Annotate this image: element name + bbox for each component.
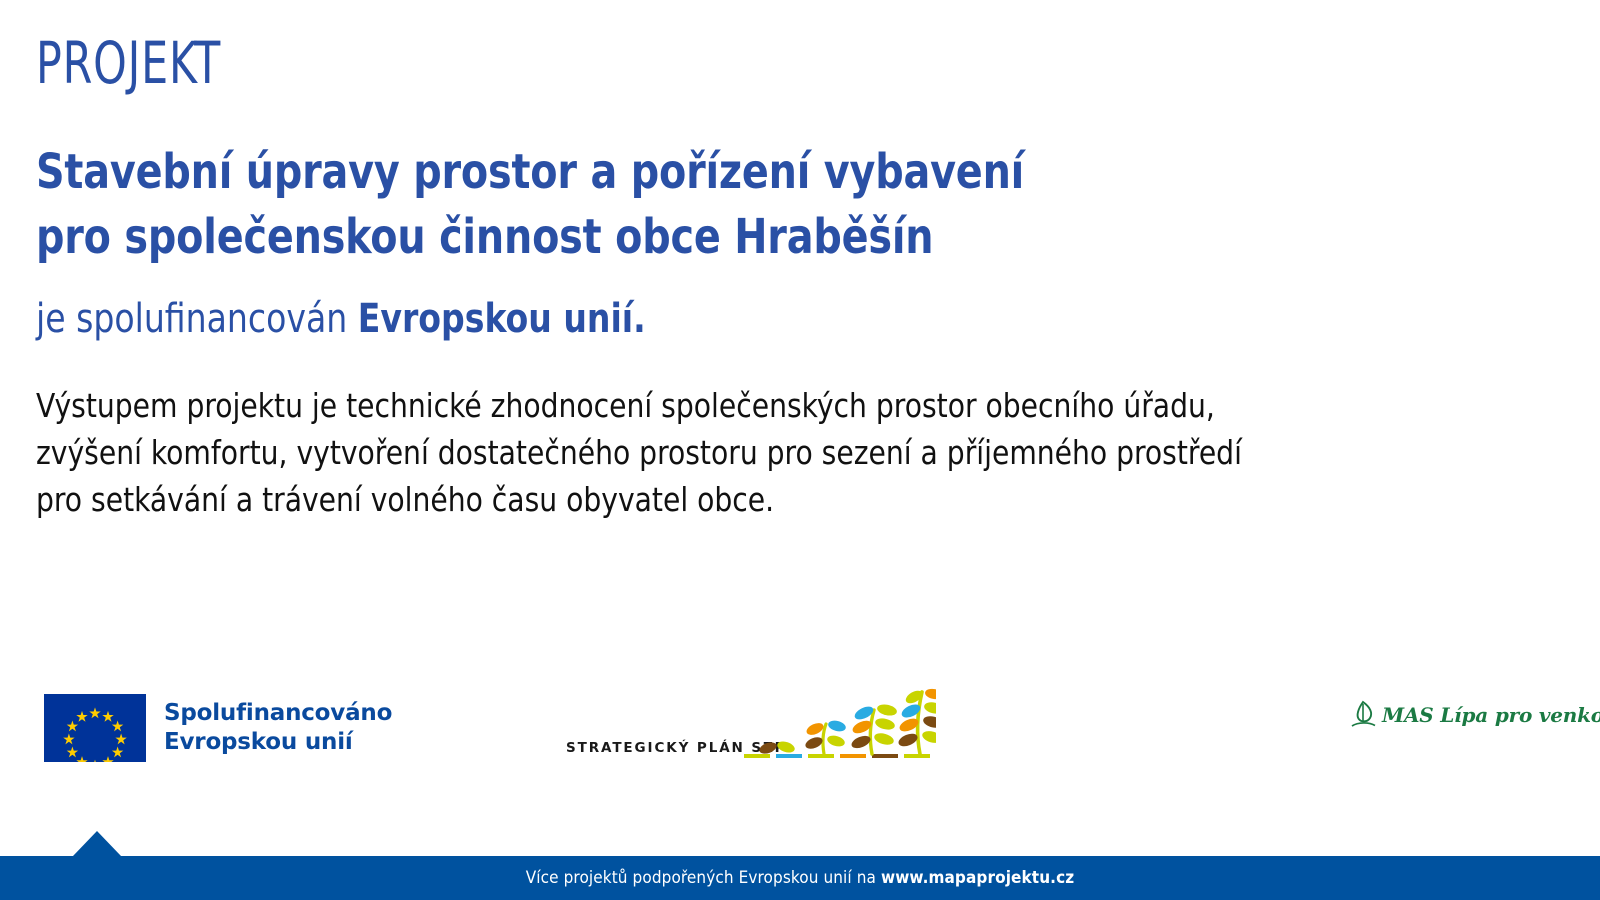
szp-strategic-plan-logo: STRATEGICKÝ PLÁN SZP bbox=[566, 680, 936, 770]
page-title-line-1: Stavební úpravy prostor a pořízení vybav… bbox=[36, 140, 1324, 205]
footer-url[interactable]: www.mapaprojektu.cz bbox=[881, 868, 1074, 888]
project-description: Výstupem projektu je technické zhodnocen… bbox=[36, 383, 1480, 524]
slide-canvas: PROJEKT Stavební úpravy prostor a poříze… bbox=[0, 0, 1600, 900]
eu-stars-icon bbox=[44, 694, 146, 762]
page-kicker-projekt: PROJEKT bbox=[36, 34, 221, 92]
cofinancing-emphasis: Evropskou unií. bbox=[358, 296, 646, 342]
logo-strip: Spolufinancováno Evropskou unií STRATEGI… bbox=[0, 672, 1600, 782]
leaf-icon bbox=[1350, 700, 1376, 730]
eu-cofunded-label-line-1: Spolufinancováno bbox=[164, 699, 392, 728]
mas-lipa-label: MAS Lípa pro venkov z.s. bbox=[1382, 703, 1600, 727]
eu-cofunded-label-line-2: Evropskou unií bbox=[164, 728, 392, 757]
footer-label: Více projektů podpořených Evropskou unií… bbox=[526, 868, 876, 888]
footer-notch-triangle bbox=[73, 831, 121, 856]
project-description-line-3: pro setkávání a trávení volného času oby… bbox=[36, 477, 1480, 524]
footer-content: Více projektů podpořených Evropskou unií… bbox=[0, 856, 1600, 900]
sprout-plants-icon bbox=[744, 680, 936, 770]
page-title: Stavební úpravy prostor a pořízení vybav… bbox=[36, 140, 1324, 270]
mas-lipa-logo: MAS Lípa pro venkov z.s. bbox=[1350, 700, 1600, 730]
page-title-line-2: pro společenskou činnost obce Hraběšín bbox=[36, 205, 1324, 270]
cofinancing-prefix: je spolufinancován bbox=[36, 296, 358, 342]
eu-cofunded-label: Spolufinancováno Evropskou unií bbox=[164, 699, 392, 757]
cofinancing-statement: je spolufinancován Evropskou unií. bbox=[36, 295, 646, 343]
eu-flag-icon bbox=[44, 694, 146, 762]
project-description-line-1: Výstupem projektu je technické zhodnocen… bbox=[36, 383, 1480, 430]
project-description-line-2: zvýšení komfortu, vytvoření dostatečného… bbox=[36, 430, 1480, 477]
eu-cofunded-logo: Spolufinancováno Evropskou unií bbox=[44, 694, 392, 762]
